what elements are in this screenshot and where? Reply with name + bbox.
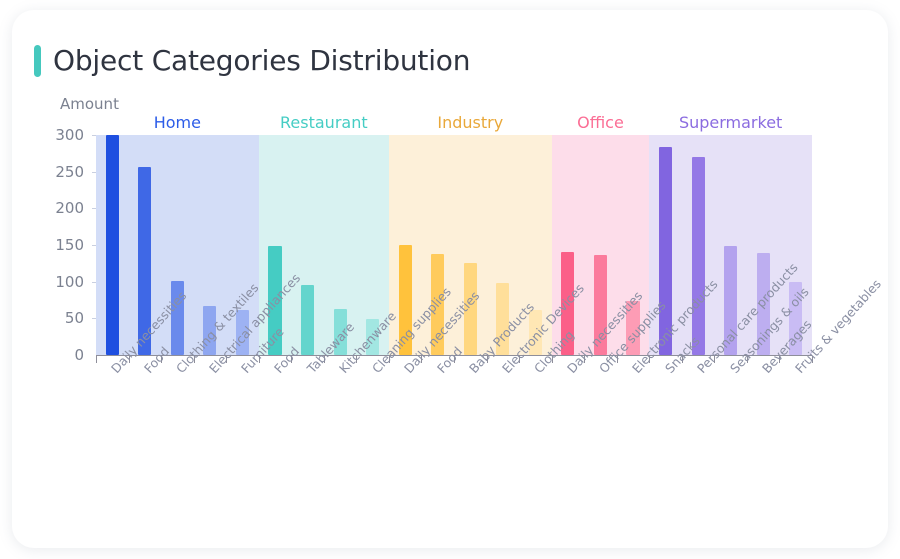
y-tick-label: 200 [12,199,84,217]
y-tick-label: 300 [12,126,84,144]
y-tick-label: 150 [12,236,84,254]
x-tick-mark [96,356,97,363]
group-label-home: Home [154,113,201,132]
group-label-office: Office [577,113,624,132]
y-axis-label: Amount [60,95,119,113]
y-tick-label: 50 [12,309,84,327]
group-label-restaurant: Restaurant [280,113,368,132]
y-tick-label: 100 [12,273,84,291]
y-tick-label: 0 [12,346,84,364]
bar[interactable] [301,285,314,355]
bar-chart: Amount HomeRestaurantIndustryOfficeSuper… [12,10,888,548]
chart-card: Object Categories Distribution Amount Ho… [12,10,888,548]
group-label-supermarket: Supermarket [679,113,782,132]
y-tick-label: 250 [12,163,84,181]
group-label-industry: Industry [437,113,503,132]
bar[interactable] [106,135,119,355]
bar[interactable] [692,157,705,355]
